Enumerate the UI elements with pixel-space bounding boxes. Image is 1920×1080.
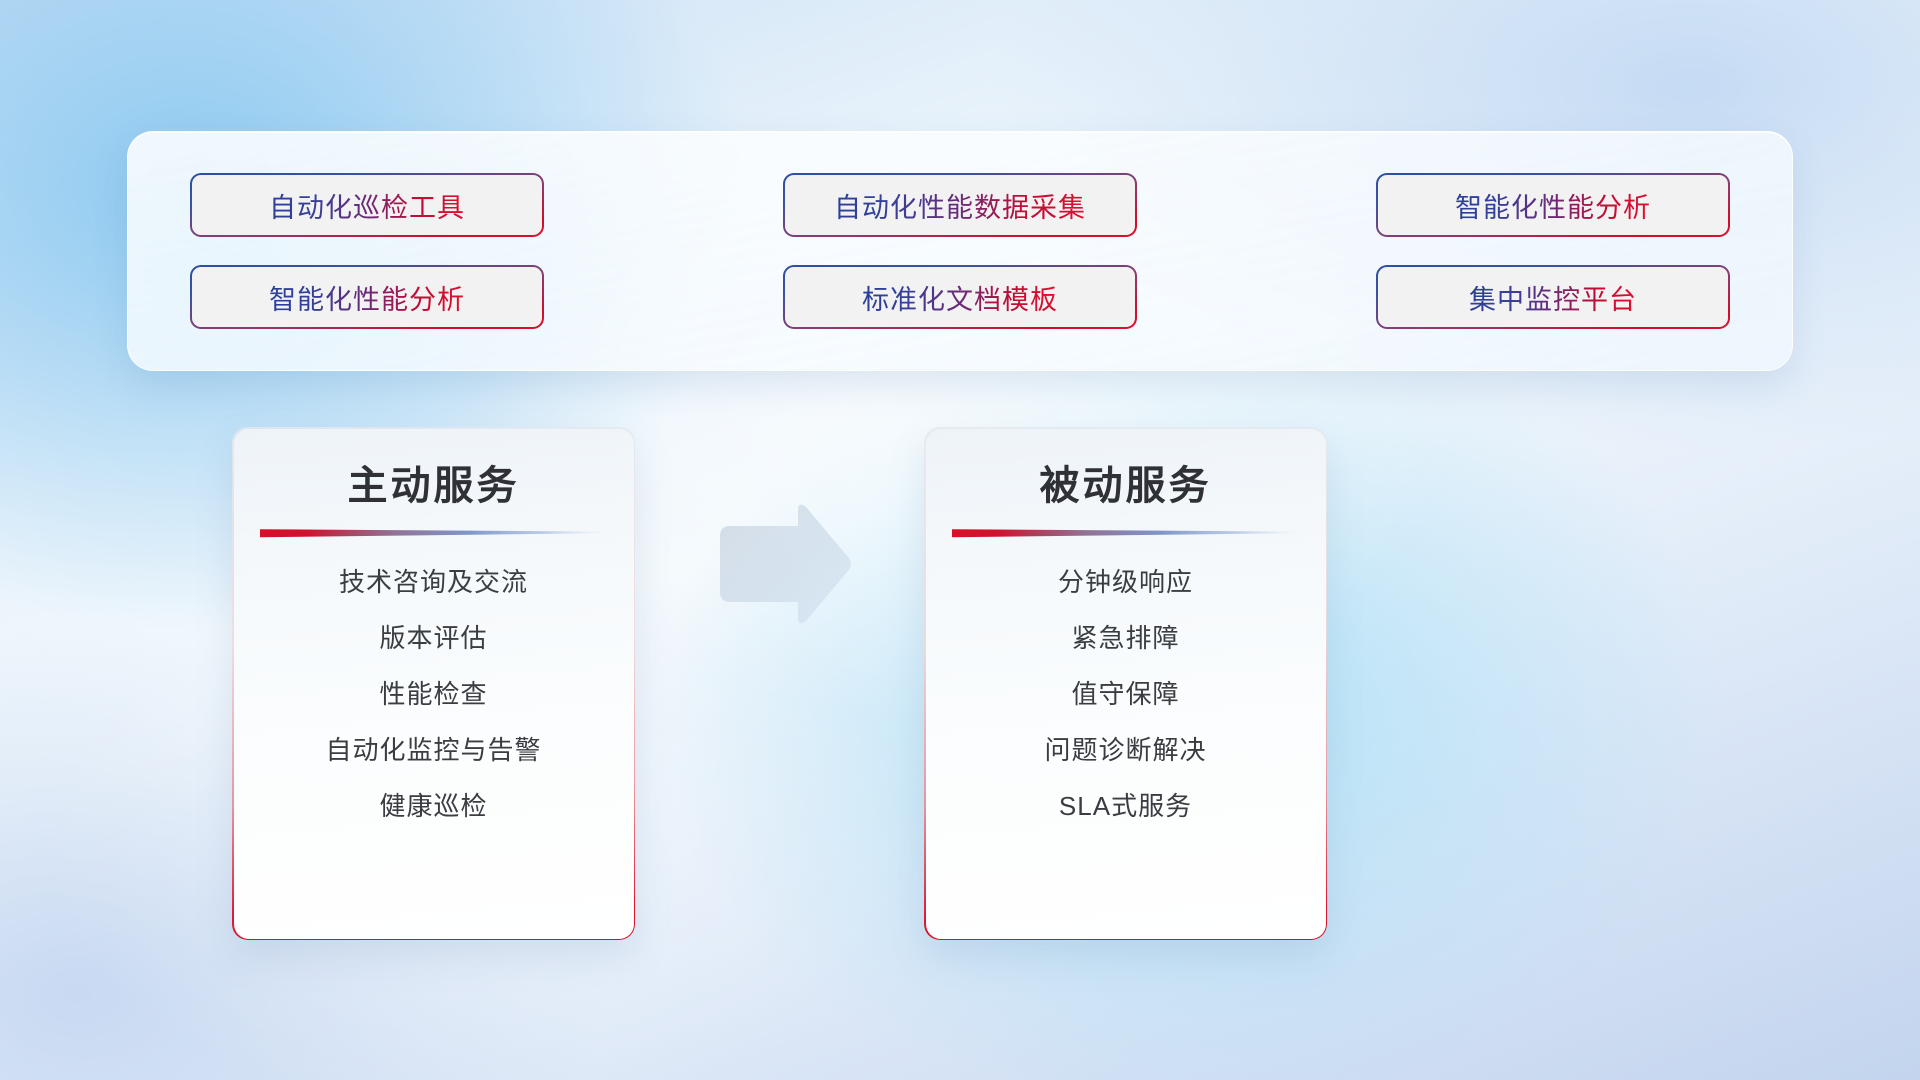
service-card-reactive[interactable]: 被动服务 分钟级响应 紧急排障 值守保障 bbox=[924, 427, 1327, 940]
pill-label: 智能化性能分析 bbox=[269, 278, 465, 317]
card-list-reactive: 分钟级响应 紧急排障 值守保障 问题诊断解决 SLA式服务 bbox=[926, 567, 1326, 823]
list-item: 性能检查 bbox=[379, 679, 487, 710]
capability-row-1: 自动化巡检工具 自动化性能数据采集 智能化性能分析 bbox=[190, 173, 1730, 237]
pill-label: 智能化性能分析 bbox=[1455, 186, 1651, 225]
list-item: 版本评估 bbox=[379, 623, 487, 654]
capability-pill-auto-perf-data-collection[interactable]: 自动化性能数据采集 bbox=[783, 173, 1137, 237]
list-item: 紧急排障 bbox=[1071, 623, 1179, 654]
service-card-proactive[interactable]: 主动服务 技术咨询及交流 版本评估 性能检查 bbox=[232, 427, 635, 940]
capability-row-2: 智能化性能分析 标准化文档模板 集中监控平台 bbox=[190, 265, 1730, 329]
pill-label: 自动化巡检工具 bbox=[269, 186, 465, 225]
card-surface: 被动服务 分钟级响应 紧急排障 值守保障 bbox=[926, 429, 1326, 939]
pill-surface: 智能化性能分析 bbox=[192, 267, 542, 327]
card-title-proactive: 主动服务 bbox=[348, 453, 520, 511]
pill-surface: 智能化性能分析 bbox=[1378, 175, 1728, 235]
list-item: 分钟级响应 bbox=[1058, 567, 1193, 598]
list-item: SLA式服务 bbox=[1059, 791, 1192, 822]
pill-label: 集中监控平台 bbox=[1469, 278, 1637, 317]
right-arrow-icon bbox=[714, 500, 854, 630]
pill-surface: 标准化文档模板 bbox=[785, 267, 1135, 327]
capability-pill-auto-inspection-tool[interactable]: 自动化巡检工具 bbox=[190, 173, 544, 237]
card-list-proactive: 技术咨询及交流 版本评估 性能检查 自动化监控与告警 健康巡检 bbox=[234, 567, 634, 823]
pill-surface: 自动化巡检工具 bbox=[192, 175, 542, 235]
list-item: 健康巡检 bbox=[379, 791, 487, 822]
capability-pill-intelligent-perf-analysis-2[interactable]: 智能化性能分析 bbox=[190, 265, 544, 329]
capability-panel: 自动化巡检工具 自动化性能数据采集 智能化性能分析 智能化性能分析 bbox=[127, 131, 1793, 371]
list-item: 问题诊断解决 bbox=[1044, 735, 1206, 766]
pill-surface: 自动化性能数据采集 bbox=[785, 175, 1135, 235]
card-title-reactive: 被动服务 bbox=[1040, 453, 1212, 511]
capability-pill-central-monitoring-platform[interactable]: 集中监控平台 bbox=[1376, 265, 1730, 329]
list-item: 技术咨询及交流 bbox=[339, 567, 528, 598]
card-title-underline bbox=[952, 527, 1300, 539]
pill-label: 自动化性能数据采集 bbox=[834, 186, 1086, 225]
capability-pill-intelligent-perf-analysis[interactable]: 智能化性能分析 bbox=[1376, 173, 1730, 237]
card-surface: 主动服务 技术咨询及交流 版本评估 性能检查 bbox=[234, 429, 634, 939]
pill-surface: 集中监控平台 bbox=[1378, 267, 1728, 327]
card-title-underline bbox=[260, 527, 608, 539]
slide-stage: 自动化巡检工具 自动化性能数据采集 智能化性能分析 智能化性能分析 bbox=[0, 0, 1920, 1080]
pill-label: 标准化文档模板 bbox=[862, 278, 1058, 317]
list-item: 自动化监控与告警 bbox=[325, 735, 541, 766]
list-item: 值守保障 bbox=[1071, 679, 1179, 710]
capability-pill-standard-doc-template[interactable]: 标准化文档模板 bbox=[783, 265, 1137, 329]
